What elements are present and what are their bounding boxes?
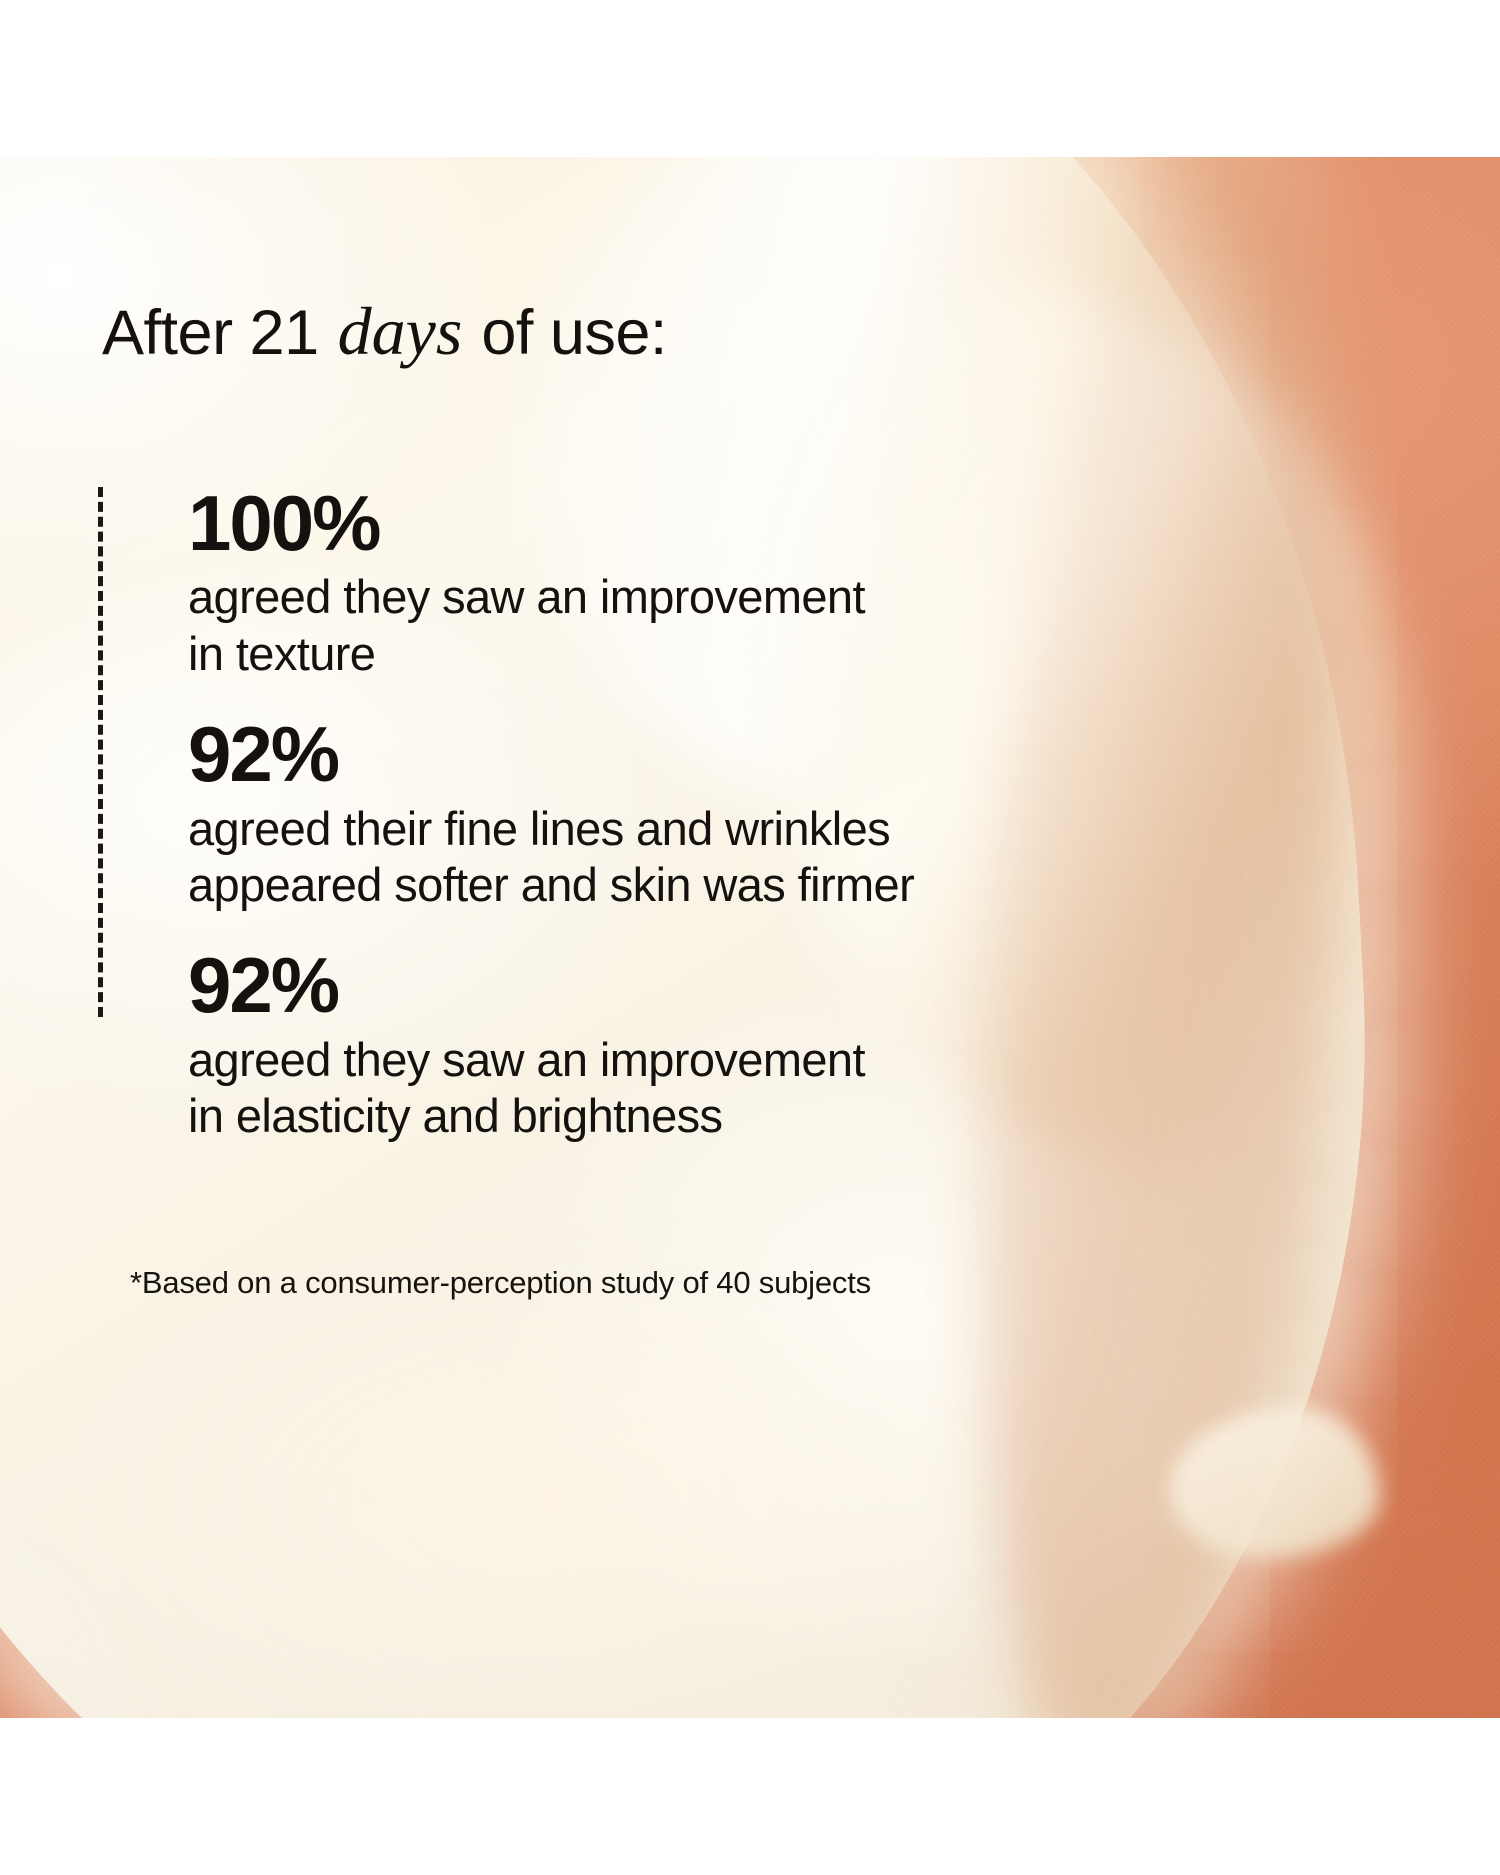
statistic-description-line: agreed their fine lines and wrinkles — [188, 802, 890, 855]
statistic-value: 100% — [188, 485, 1358, 561]
statistic-description: agreed their fine lines and wrinkles app… — [188, 801, 1358, 914]
photo-stage: After 21 days of use: 100% agreed they s… — [0, 157, 1500, 1718]
headline-emphasis: days — [336, 293, 465, 369]
headline-after: of use: — [481, 298, 667, 368]
statistic-value: 92% — [188, 947, 1358, 1023]
statistic-description: agreed they saw an improvement in textur… — [188, 569, 1358, 682]
headline-before: After 21 — [102, 298, 319, 368]
statistic-description-line: in texture — [188, 627, 375, 680]
statistic-item: 92% agreed their fine lines and wrinkles… — [188, 716, 1358, 913]
page-title: After 21 days of use: — [102, 295, 667, 367]
marketing-claims-image: After 21 days of use: 100% agreed they s… — [0, 0, 1500, 1875]
statistic-item: 100% agreed they saw an improvement in t… — [188, 485, 1358, 682]
statistic-description-line: agreed they saw an improvement — [188, 570, 865, 623]
statistic-description-line: appeared softer and skin was firmer — [188, 858, 914, 911]
statistic-item: 92% agreed they saw an improvement in el… — [188, 947, 1358, 1144]
footnote-disclaimer: *Based on a consumer-perception study of… — [130, 1265, 871, 1301]
statistic-description: agreed they saw an improvement in elasti… — [188, 1032, 1358, 1145]
claims-content: After 21 days of use: 100% agreed they s… — [0, 157, 1500, 1718]
statistics-list: 100% agreed they saw an improvement in t… — [188, 485, 1358, 1145]
dashed-vertical-rule — [98, 487, 103, 1017]
statistic-description-line: agreed they saw an improvement — [188, 1033, 865, 1086]
statistic-description-line: in elasticity and brightness — [188, 1089, 722, 1142]
statistic-value: 92% — [188, 716, 1358, 792]
